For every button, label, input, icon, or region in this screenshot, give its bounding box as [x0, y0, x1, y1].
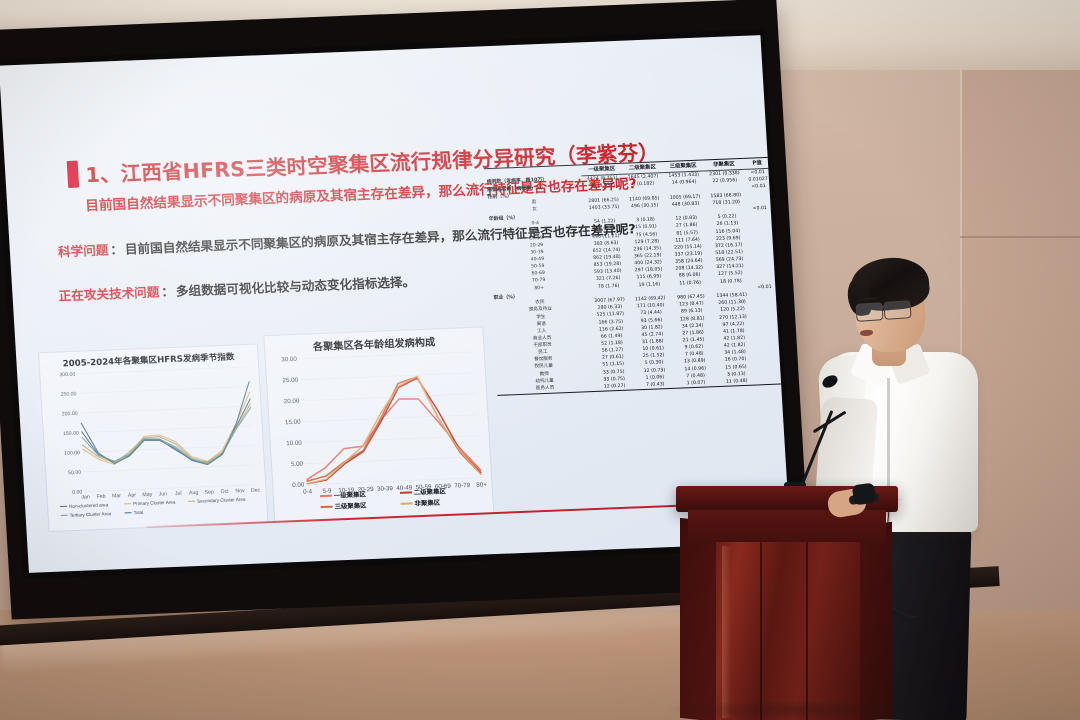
podium-shadow [660, 700, 940, 720]
podium-side-right [856, 522, 892, 720]
podium-highlight [722, 546, 731, 718]
eyeglasses-bridge [880, 306, 887, 308]
eyeglasses-lens-right [883, 300, 911, 320]
wristwatch-icon [852, 483, 877, 506]
podium-seam-right [806, 542, 808, 720]
podium-front-panel [688, 510, 886, 544]
podium-column [716, 542, 860, 720]
podium-seam-left [760, 542, 762, 720]
wall-seam-horizontal [960, 236, 1080, 238]
podium-side-left [680, 518, 720, 720]
presentation-photo: 1、江西省HFRS三类时空聚集区流行规律分异研究（李紫芬） 目前国自然结果显示不… [0, 0, 1080, 720]
